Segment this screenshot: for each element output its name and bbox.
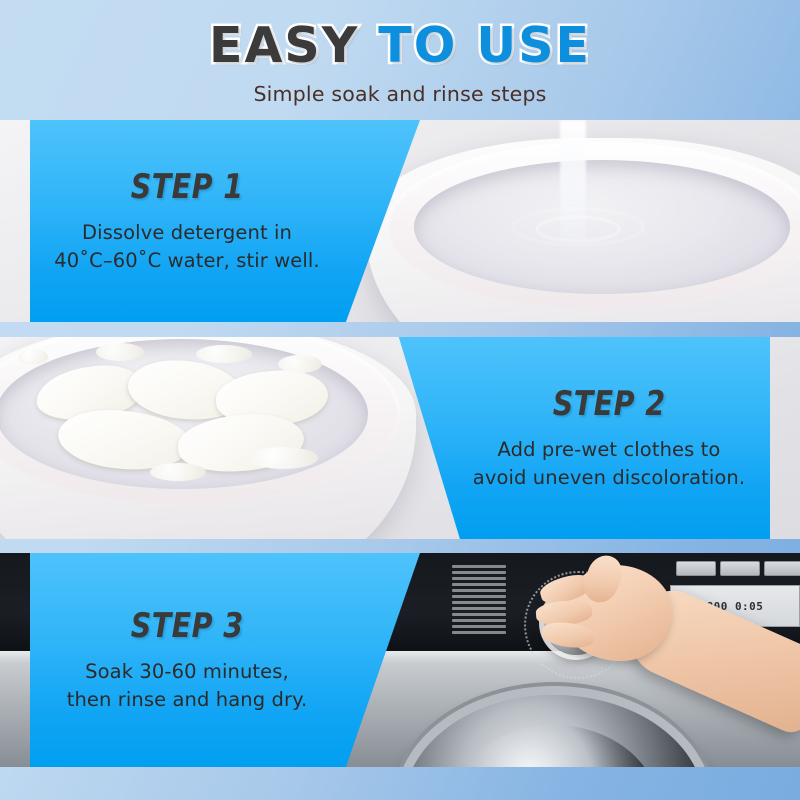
title-word-dark: EASY: [209, 17, 359, 74]
infographic-poster: EASY TO USE Simple soak and rinse steps …: [0, 0, 800, 800]
step-3-description: Soak 30-60 minutes, then rinse and hang …: [67, 658, 308, 713]
step-row-1: STEP 1 Dissolve detergent in 40˚C–60˚C w…: [0, 120, 800, 322]
page-title: EASY TO USE: [0, 0, 800, 73]
soap-suds: [150, 463, 206, 481]
washing-machine-program-labels: [452, 565, 506, 634]
title-word-blue: TO USE: [378, 17, 591, 74]
step-2-heading: STEP 2: [553, 384, 666, 424]
page-subtitle: Simple soak and rinse steps: [0, 73, 800, 106]
display-time-remaining: 0:05: [735, 600, 764, 613]
step-row-2: STEP 2 Add pre-wet clothes to avoid unev…: [0, 337, 800, 539]
step-1-description: Dissolve detergent in 40˚C–60˚C water, s…: [54, 219, 319, 274]
soap-suds: [18, 349, 48, 365]
water-splash-ring-outer: [512, 208, 644, 246]
step-1-description-line-1: Dissolve detergent in: [54, 219, 319, 247]
soap-suds: [248, 447, 318, 469]
step-2-description-line-2: avoid uneven discoloration.: [473, 464, 745, 492]
step-row-3: 800 0:05 STEP 3 Soak 30-60 minutes,: [0, 553, 800, 767]
step-2-description-line-1: Add pre-wet clothes to: [473, 436, 745, 464]
step-1-heading: STEP 1: [131, 167, 244, 207]
step-2-description: Add pre-wet clothes to avoid uneven disc…: [473, 436, 745, 491]
washing-machine-option-buttons[interactable]: [676, 561, 800, 576]
step-1-description-line-2: 40˚C–60˚C water, stir well.: [54, 247, 319, 275]
step-3-heading: STEP 3: [131, 606, 244, 646]
step-3-description-line-1: Soak 30-60 minutes,: [67, 658, 308, 686]
soap-suds: [96, 343, 144, 361]
poster-header: EASY TO USE Simple soak and rinse steps: [0, 0, 800, 118]
soap-suds: [196, 345, 252, 363]
step-3-description-line-2: then rinse and hang dry.: [67, 686, 308, 714]
soap-suds: [278, 355, 322, 373]
